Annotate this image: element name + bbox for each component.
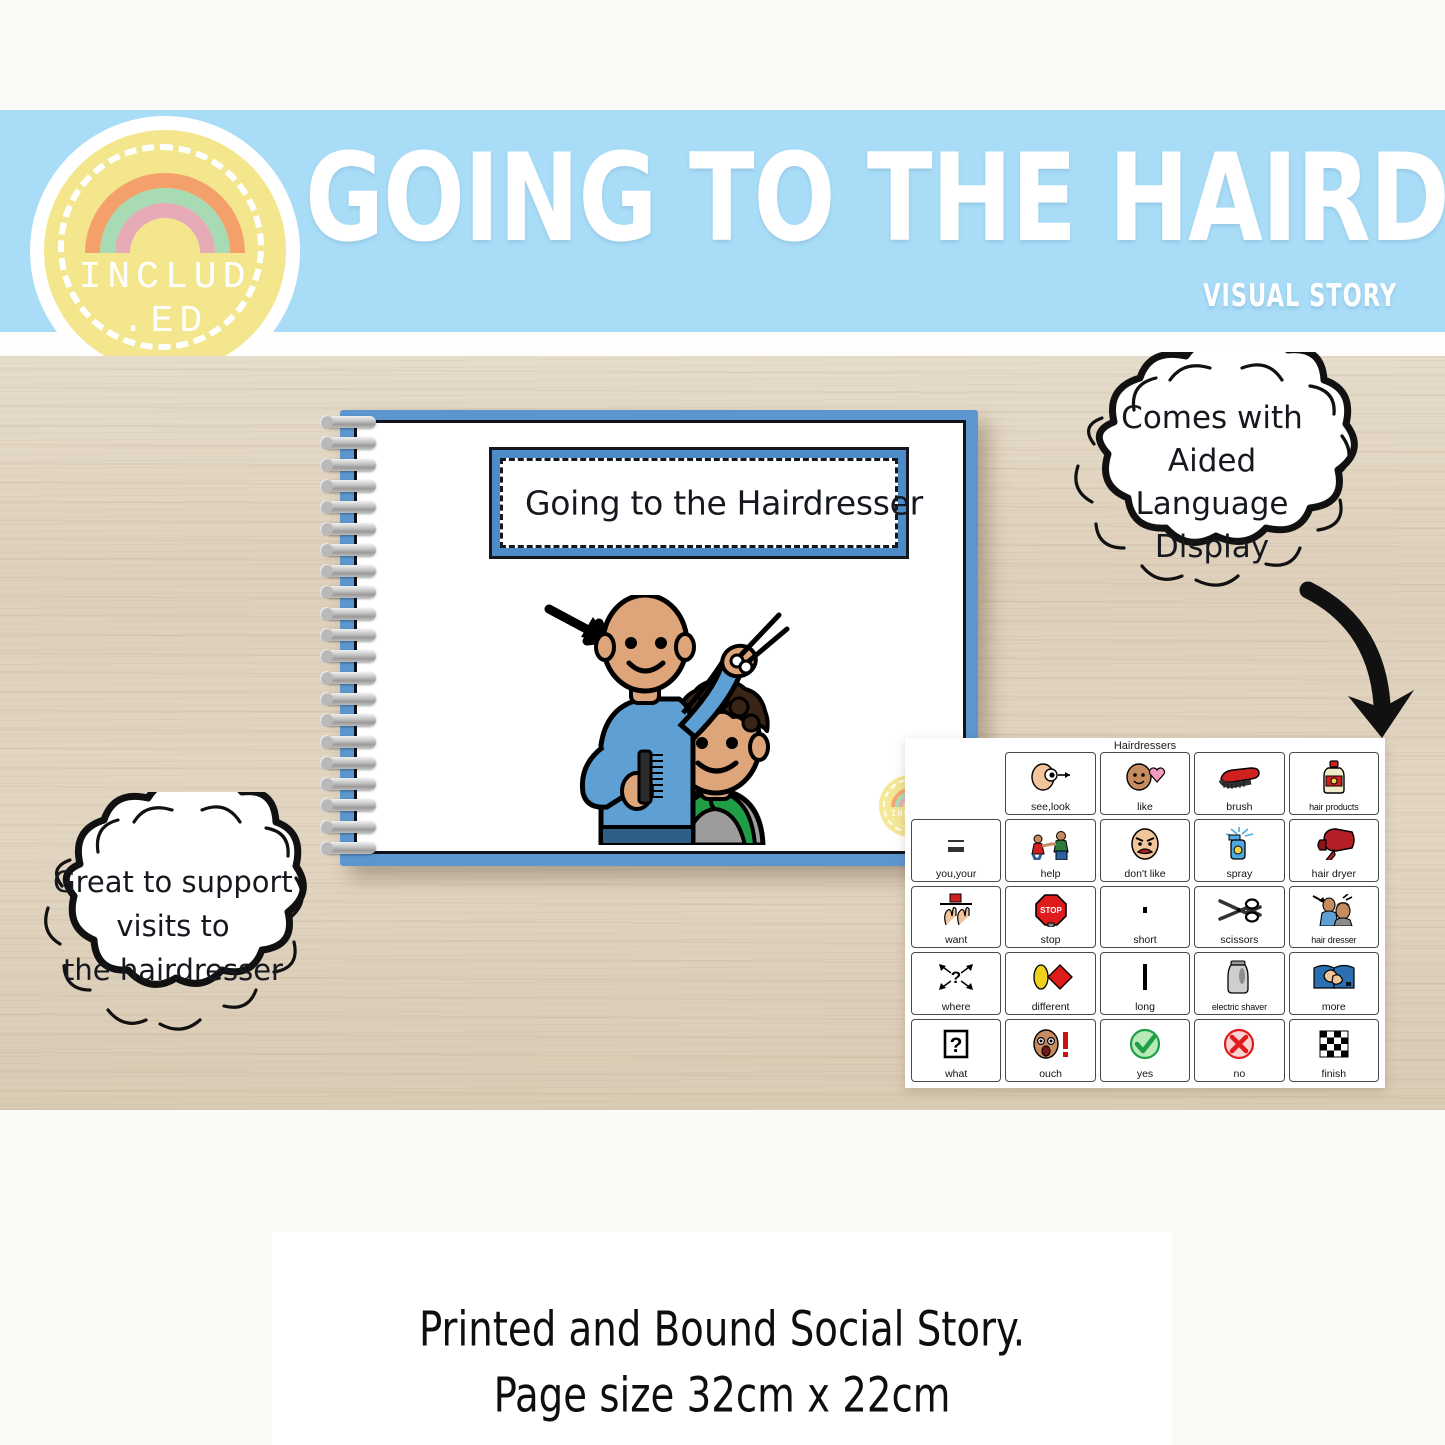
aac-label: stop: [1041, 934, 1061, 946]
aac-label: electric shaver: [1212, 1001, 1267, 1013]
aac-cell-help[interactable]: help: [1005, 819, 1095, 882]
aac-cell-more[interactable]: more: [1289, 952, 1379, 1015]
spiral-ring: [324, 416, 376, 428]
aac-cell-hair-dryer[interactable]: hair dryer: [1289, 819, 1379, 882]
spiral-ring: [324, 480, 376, 492]
aac-cell-spray[interactable]: spray: [1194, 819, 1284, 882]
bottom-description-line2: Page size 32cm x 22cm: [272, 1360, 1172, 1432]
aac-cell-ouch[interactable]: ouch: [1005, 1019, 1095, 1082]
aac-cell-electric-shaver[interactable]: electric shaver: [1194, 952, 1284, 1015]
callout-support-visits: Great to support visits to the hairdress…: [14, 792, 332, 1060]
aac-cell-finish[interactable]: finish: [1289, 1019, 1379, 1082]
aac-label: hair dryer: [1312, 868, 1356, 880]
aac-cell-dont-like[interactable]: don't like: [1100, 819, 1190, 882]
aac-label: short: [1133, 934, 1156, 946]
short-line-icon: [1101, 887, 1189, 935]
curved-arrow-icon: [1290, 578, 1440, 758]
scissors-icon: [1195, 887, 1283, 935]
aac-label: hair dresser: [1311, 934, 1356, 946]
brand-logo: INCLUD .ED: [30, 116, 300, 386]
aac-cell-different[interactable]: different: [1005, 952, 1095, 1015]
page-title-box: Going to the Hairdresser: [489, 447, 909, 559]
spiral-ring: [324, 586, 376, 598]
page-title-inner-frame: Going to the Hairdresser: [500, 458, 898, 548]
aac-label: scissors: [1220, 934, 1258, 946]
aac-label: help: [1041, 868, 1061, 880]
aac-cell-long[interactable]: long: [1100, 952, 1190, 1015]
aac-label: don't like: [1124, 868, 1165, 880]
aac-board-title: Hairdressers: [905, 740, 1385, 752]
svg-text:STOP: STOP: [1040, 906, 1062, 915]
aac-label: brush: [1226, 801, 1252, 813]
aac-cell-hair-products[interactable]: hair products: [1289, 752, 1379, 815]
spray-bottle-icon: [1195, 820, 1283, 868]
spiral-ring: [324, 565, 376, 577]
svg-text:?: ?: [951, 968, 961, 987]
angry-face-icon: [1101, 820, 1189, 868]
svg-text:?: ?: [950, 1034, 963, 1057]
spiral-ring: [324, 757, 376, 769]
page-title: GOING TO THE HAIRDRESSER: [305, 122, 1445, 275]
aac-label: more: [1322, 1001, 1346, 1013]
cloud-shape-left: [14, 792, 332, 1060]
spiral-ring: [324, 650, 376, 662]
cloud-shape-right: [1042, 352, 1382, 614]
spiral-ring: [324, 672, 376, 684]
spiral-ring: [324, 459, 376, 471]
long-line-icon: [1101, 953, 1189, 1001]
aac-label: want: [945, 934, 967, 946]
shampoo-bottle-icon: [1290, 753, 1378, 801]
spiral-ring: [324, 544, 376, 556]
face-heart-icon: [1101, 753, 1189, 801]
aac-label: different: [1032, 1001, 1070, 1013]
pointing-person-icon: [912, 820, 1000, 868]
spiral-ring: [324, 437, 376, 449]
hurt-face-icon: [1006, 1020, 1094, 1068]
spiral-ring: [324, 501, 376, 513]
hair-dryer-icon: [1290, 820, 1378, 868]
hair-brush-icon: [1195, 753, 1283, 801]
top-whitespace: [0, 0, 1445, 110]
hands-reaching-icon: [912, 887, 1000, 935]
eye-looking-icon: [1006, 753, 1094, 801]
question-arrows-icon: ?: [912, 953, 1000, 1001]
aac-cell-you-your[interactable]: you,your: [911, 819, 1001, 882]
aac-cell-yes[interactable]: yes: [1100, 1019, 1190, 1082]
hands-more-icon: [1290, 953, 1378, 1001]
aac-label: finish: [1322, 1068, 1347, 1080]
aac-cell-want[interactable]: want: [911, 886, 1001, 949]
brand-name-line1: INCLUD: [30, 256, 300, 299]
spiral-ring: [324, 714, 376, 726]
callout-aided-language-display: Comes with Aided Language Display: [1042, 352, 1382, 614]
green-check-icon: [1101, 1020, 1189, 1068]
aac-label: what: [945, 1068, 967, 1080]
spiral-ring: [324, 523, 376, 535]
aac-label: hair products: [1309, 801, 1358, 813]
electric-shaver-icon: [1195, 953, 1283, 1001]
aac-symbol-grid: see,look like: [911, 752, 1379, 1082]
stop-sign-icon: STOP: [1006, 887, 1094, 935]
spiral-ring: [324, 693, 376, 705]
aided-language-display-board: Hairdressers see,look: [905, 738, 1385, 1088]
aac-label: where: [942, 1001, 971, 1013]
product-description-card: Printed and Bound Social Story. Page siz…: [272, 1232, 1172, 1445]
hairdresser-person-icon: [1290, 887, 1378, 935]
brand-name-line2: .ED: [30, 300, 300, 343]
checkered-flag-icon: [1290, 1020, 1378, 1068]
aac-label: like: [1137, 801, 1153, 813]
aac-label: see,look: [1031, 801, 1070, 813]
aac-cell-what[interactable]: ? what: [911, 1019, 1001, 1082]
book-page: Going to the Hairdresser: [354, 420, 966, 854]
spiral-ring: [324, 736, 376, 748]
spiral-ring: [324, 608, 376, 620]
aac-label: long: [1135, 1001, 1155, 1013]
aac-label: no: [1234, 1068, 1246, 1080]
book-page-title: Going to the Hairdresser: [525, 484, 923, 523]
aac-cell-short[interactable]: short: [1100, 886, 1190, 949]
aac-cell-like[interactable]: like: [1100, 752, 1190, 815]
two-people-helping-icon: [1006, 820, 1094, 868]
aac-cell-see-look[interactable]: see,look: [1005, 752, 1095, 815]
aac-label: spray: [1227, 868, 1253, 880]
aac-label: yes: [1137, 1068, 1153, 1080]
bottom-description-line1: Printed and Bound Social Story.: [272, 1294, 1172, 1366]
spiral-ring: [324, 778, 376, 790]
hairdresser-illustration: [543, 595, 803, 845]
aac-cell-where[interactable]: ? where: [911, 952, 1001, 1015]
aac-cell-brush[interactable]: brush: [1194, 752, 1284, 815]
aac-cell-hair-dresser[interactable]: hair dresser: [1289, 886, 1379, 949]
banner-subtitle: VISUAL STORY: [1203, 277, 1397, 313]
red-cross-icon: [1195, 1020, 1283, 1068]
spiral-ring: [324, 629, 376, 641]
aac-cell-no[interactable]: no: [1194, 1019, 1284, 1082]
aac-cell-scissors[interactable]: scissors: [1194, 886, 1284, 949]
yellow-oval-red-diamond-icon: [1006, 953, 1094, 1001]
aac-cell-stop[interactable]: STOP stop: [1005, 886, 1095, 949]
question-mark-box-icon: ?: [912, 1020, 1000, 1068]
aac-label: you,your: [936, 868, 976, 880]
spiral-bound-book: Going to the Hairdresser: [318, 406, 978, 866]
aac-label: ouch: [1039, 1068, 1062, 1080]
